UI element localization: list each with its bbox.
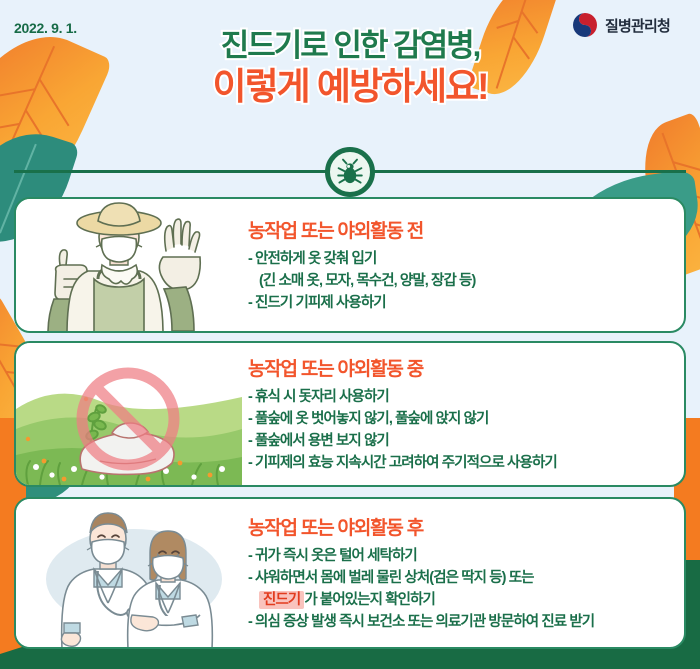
card-during-bullet-2: - 풀숲에 옷 벗어놓지 않기, 풀숲에 앉지 않기	[248, 408, 674, 430]
card-after-body: 농작업 또는 야외활동 후 - 귀가 즉시 옷은 털어 세탁하기 - 샤워하면서…	[248, 499, 674, 647]
card-before-bullet-3: - 진드기 기피제 사용하기	[248, 292, 674, 314]
card-after-bullet-3-text: 가 붙어있는지 확인하기	[304, 592, 435, 608]
card-before-heading: 농작업 또는 야외활동 전	[248, 216, 674, 243]
card-during-heading: 농작업 또는 야외활동 중	[248, 354, 674, 381]
tick-mite-icon	[335, 157, 365, 187]
card-during: 농작업 또는 야외활동 중 - 휴식 시 돗자리 사용하기 - 풀숲에 옷 벗어…	[14, 341, 686, 487]
tick-term-highlight: 진드기	[259, 591, 304, 609]
card-during-bullet-3: - 풀숲에서 용변 보지 않기	[248, 430, 674, 452]
card-during-bullet-4: - 기피제의 효능 지속시간 고려하여 주기적으로 사용하기	[248, 452, 674, 474]
poster-title: 진드기로 인한 감염병, 이렇게 예방하세요!	[0, 30, 700, 106]
title-line-2: 이렇게 예방하세요!	[0, 67, 700, 106]
tick-badge	[325, 147, 375, 197]
card-before-body: 농작업 또는 야외활동 전 - 안전하게 옷 갖춰 입기 (긴 소매 옷, 모자…	[248, 199, 674, 331]
card-after-heading: 농작업 또는 야외활동 후	[248, 513, 674, 540]
card-after-bullet-1: - 귀가 즉시 옷은 털어 세탁하기	[248, 545, 674, 567]
title-line-1: 진드기로 인한 감염병,	[0, 30, 700, 63]
card-after: 농작업 또는 야외활동 후 - 귀가 즉시 옷은 털어 세탁하기 - 샤워하면서…	[14, 497, 686, 649]
card-after-bullet-4: - 의심 증상 발생 즉시 보건소 또는 의료기관 방문하여 진료 받기	[248, 611, 674, 633]
card-before: 농작업 또는 야외활동 전 - 안전하게 옷 갖춰 입기 (긴 소매 옷, 모자…	[14, 197, 686, 333]
card-after-bullet-3: 진드기가 붙어있는지 확인하기	[248, 589, 674, 611]
farmer-thumbs-up-icon	[16, 199, 242, 331]
card-during-bullet-1: - 휴식 시 돗자리 사용하기	[248, 386, 674, 408]
card-after-bullet-2: - 샤워하면서 몸에 벌레 물린 상처(검은 딱지 등) 또는	[248, 567, 674, 589]
card-during-body: 농작업 또는 야외활동 중 - 휴식 시 돗자리 사용하기 - 풀숲에 옷 벗어…	[248, 343, 674, 485]
infographic-poster: 2022. 9. 1. 질병관리청 진드기로 인한 감염병, 이렇게 예방하세요…	[0, 0, 700, 669]
card-before-bullet-2: (긴 소매 옷, 모자, 목수건, 양말, 장갑 등)	[248, 270, 674, 292]
no-clothes-on-grass-icon	[16, 343, 242, 485]
card-before-bullet-1: - 안전하게 옷 갖춰 입기	[248, 248, 674, 270]
two-doctors-icon	[16, 499, 242, 647]
